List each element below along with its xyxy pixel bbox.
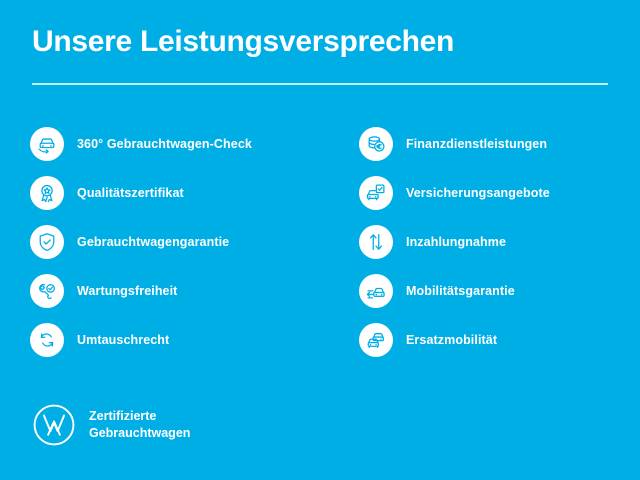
exchange-arrows-icon [30, 323, 64, 357]
benefit-item-inzahlungnahme[interactable]: Inzahlungnahme [359, 225, 634, 259]
benefit-label: Qualitätszertifikat [77, 186, 184, 200]
benefit-item-finanzdienstleistungen[interactable]: Finanzdienstleistungen [359, 127, 634, 161]
header: Unsere Leistungsversprechen [32, 26, 608, 58]
benefit-label: Versicherungsangebote [406, 186, 550, 200]
up-down-arrows-icon [359, 225, 393, 259]
benefit-item-gebrauchtwagengarantie[interactable]: Gebrauchtwagengarantie [30, 225, 340, 259]
benefit-label: Wartungsfreiheit [77, 284, 177, 298]
benefit-item-mobilitaetsgarantie[interactable]: Mobilitätsgarantie [359, 274, 634, 308]
benefit-label: Umtauschrecht [77, 333, 169, 347]
header-divider [32, 83, 608, 85]
promo-poster: Unsere Leistungsversprechen 360° Gebrauc… [0, 0, 640, 480]
car-check-icon [30, 127, 64, 161]
two-cars-icon [359, 323, 393, 357]
brand-lockup-line1: Zertifizierte [89, 408, 190, 425]
tow-truck-icon [359, 274, 393, 308]
shield-check-icon [30, 225, 64, 259]
benefit-item-umtauschrecht[interactable]: Umtauschrecht [30, 323, 340, 357]
benefit-item-gebrauchtwagen-check[interactable]: 360° Gebrauchtwagen-Check [30, 127, 340, 161]
volkswagen-logo-icon [32, 403, 76, 447]
car-document-check-icon [359, 176, 393, 210]
benefit-label: Mobilitätsgarantie [406, 284, 515, 298]
brand-lockup: Zertifizierte Gebrauchtwagen [32, 403, 190, 447]
page-title: Unsere Leistungsversprechen [32, 26, 608, 58]
brand-lockup-line2: Gebrauchtwagen [89, 425, 190, 442]
benefit-item-ersatzmobilitaet[interactable]: Ersatzmobilität [359, 323, 634, 357]
benefit-label: Inzahlungnahme [406, 235, 506, 249]
brand-lockup-text: Zertifizierte Gebrauchtwagen [89, 408, 190, 443]
benefit-item-qualitaetszertifikat[interactable]: Qualitätszertifikat [30, 176, 340, 210]
benefit-label: Ersatzmobilität [406, 333, 497, 347]
benefit-label: Finanzdienstleistungen [406, 137, 547, 151]
wrench-check-icon [30, 274, 64, 308]
benefit-label: 360° Gebrauchtwagen-Check [77, 137, 252, 151]
benefits-column-right: Finanzdienstleistungen Versicherungsange… [359, 127, 634, 357]
coins-euro-icon [359, 127, 393, 161]
benefit-item-versicherungsangebote[interactable]: Versicherungsangebote [359, 176, 634, 210]
benefit-label: Gebrauchtwagengarantie [77, 235, 229, 249]
award-rosette-icon [30, 176, 64, 210]
benefits-column-left: 360° Gebrauchtwagen-Check Qualitätszerti… [30, 127, 340, 357]
benefit-item-wartungsfreiheit[interactable]: Wartungsfreiheit [30, 274, 340, 308]
